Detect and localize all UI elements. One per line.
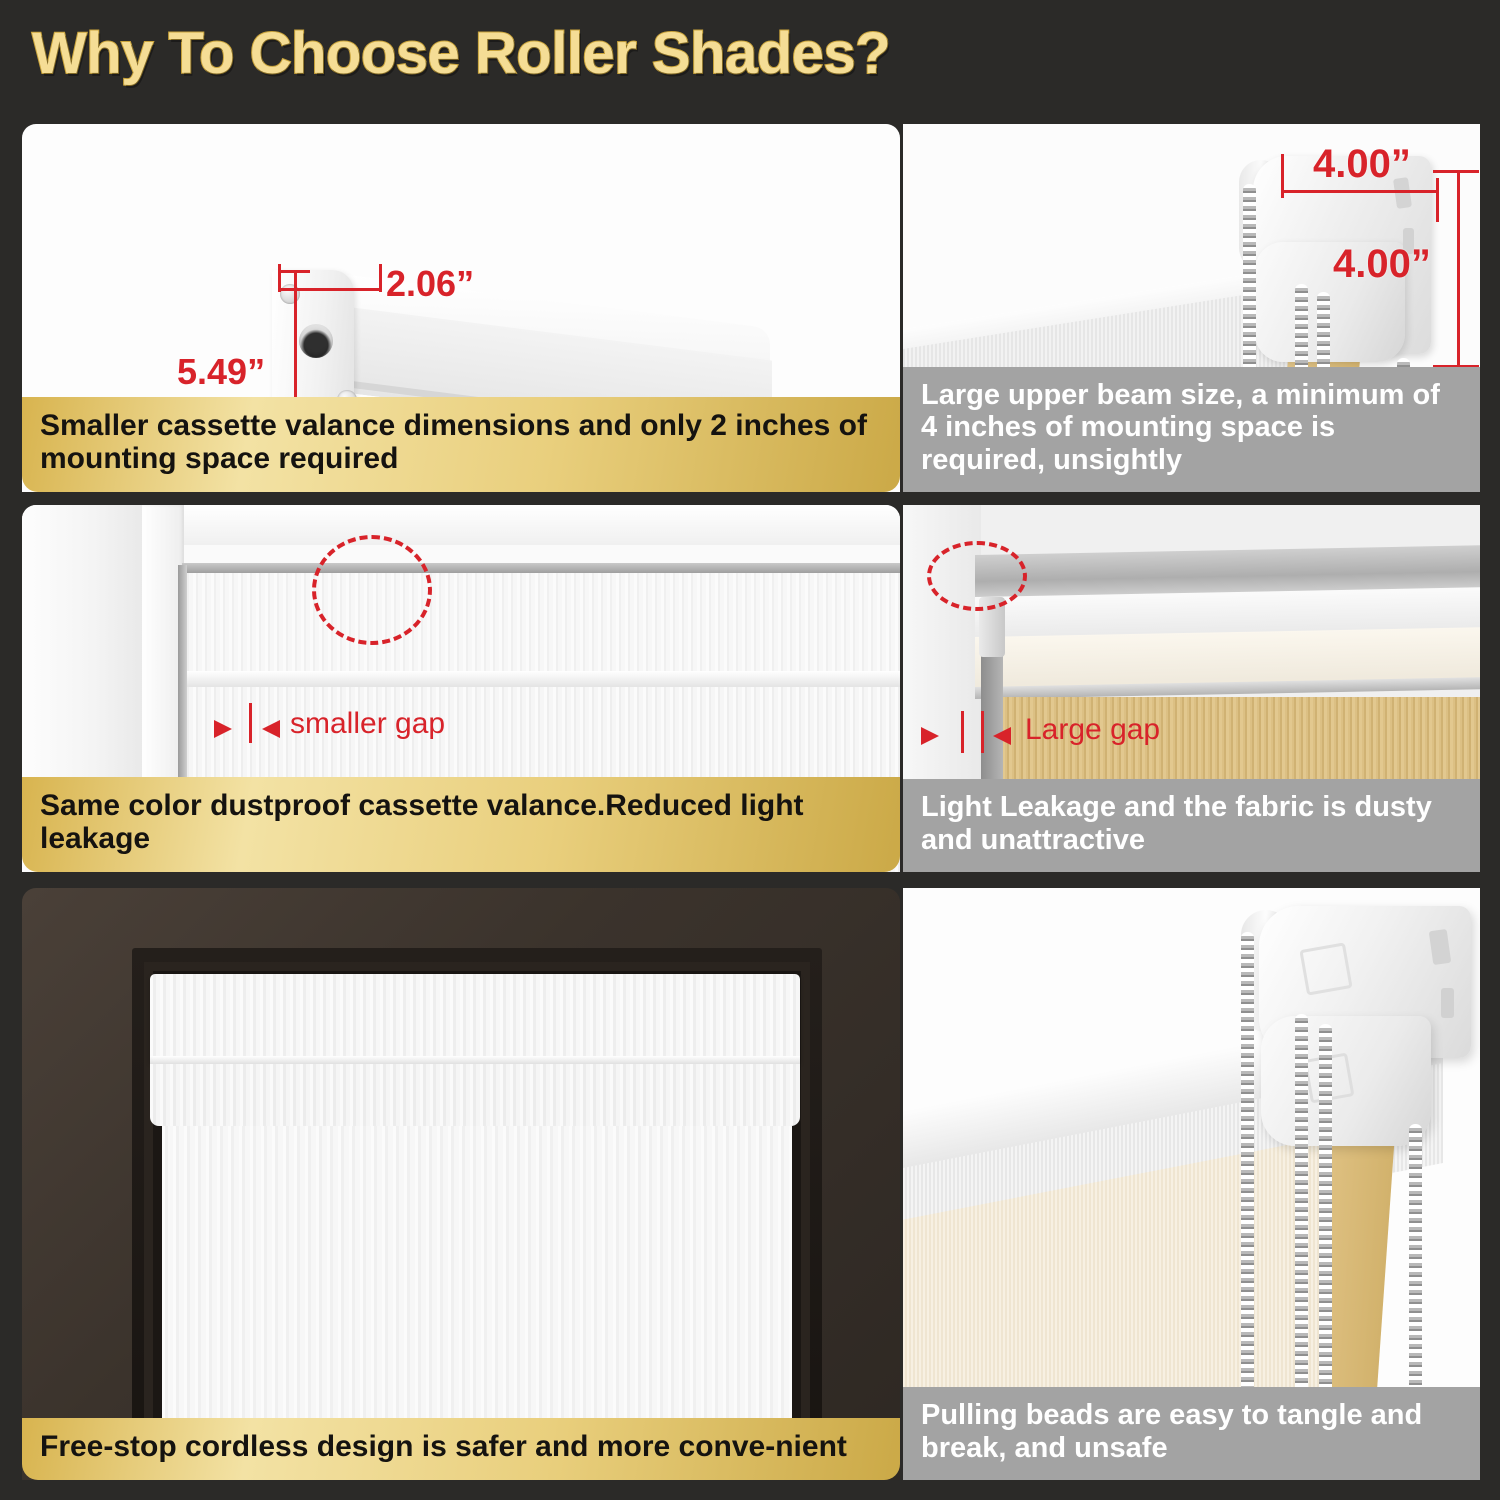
panel-bad-large-upper-beam: 4.00” 4.00” Large upper beam size, a min… xyxy=(903,124,1480,492)
gap-label: Large gap xyxy=(1025,713,1160,747)
cassette-valance xyxy=(150,974,800,1062)
height-dimension-line xyxy=(1457,170,1460,368)
gap-arrow-left-icon xyxy=(993,727,1011,745)
panel-good-cordless-design: Free-stop cordless design is safer and m… xyxy=(22,888,900,1480)
width-tick-right xyxy=(1436,178,1439,222)
comparison-grid: 2.06” 5.49” Smaller cassette valance dim… xyxy=(0,0,1500,1500)
height-dimension-label: 5.49” xyxy=(177,351,265,393)
panel-5-photo xyxy=(22,888,900,1480)
shade-upper-panel xyxy=(184,573,900,671)
width-tick-right xyxy=(379,264,382,292)
panel-5-caption: Free-stop cordless design is safer and m… xyxy=(22,1418,900,1480)
panel-6-caption: Pulling beads are easy to tangle and bre… xyxy=(903,1387,1480,1480)
panel-bad-pulling-beads: Pulling beads are easy to tangle and bre… xyxy=(903,888,1480,1480)
shade-fabric xyxy=(162,1126,792,1458)
cassette-rail xyxy=(182,563,900,573)
width-dimension-label: 4.00” xyxy=(1313,142,1411,187)
width-tick-left xyxy=(278,264,281,292)
bead-chain-3 xyxy=(1319,1024,1332,1438)
endcap-port xyxy=(299,324,333,358)
gap-arrow-right-icon xyxy=(921,727,939,745)
panel-good-cassette-dimensions: 2.06” 5.49” Smaller cassette valance dim… xyxy=(22,124,900,492)
panel-1-caption: Smaller cassette valance dimensions and … xyxy=(22,397,900,492)
window-frame-top xyxy=(142,505,900,545)
bracket-slot-lower xyxy=(1441,988,1454,1018)
width-dimension-line xyxy=(1281,190,1439,193)
gap-arrow-left-icon xyxy=(262,720,280,738)
height-tick-top xyxy=(278,270,310,273)
gap-marker-line-b xyxy=(981,711,984,753)
gap-marker-line xyxy=(249,703,252,743)
gap-marker-line-a xyxy=(961,711,964,753)
height-tick-top xyxy=(1433,170,1479,173)
panel-2-caption: Large upper beam size, a minimum of 4 in… xyxy=(903,367,1480,492)
endcap-screw-top xyxy=(280,284,300,304)
width-tick-left xyxy=(1281,154,1284,198)
width-dimension-label: 2.06” xyxy=(386,263,474,305)
bead-chain-1 xyxy=(1241,932,1254,1438)
bracket-emboss-upper-icon xyxy=(1299,942,1352,995)
gap-label: smaller gap xyxy=(290,707,445,741)
panel-good-dustproof-valance: smaller gap Same color dustproof cassett… xyxy=(22,505,900,872)
panel-4-caption: Light Leakage and the fabric is dusty an… xyxy=(903,779,1480,872)
panel-bad-light-leakage: Large gap Light Leakage and the fabric i… xyxy=(903,505,1480,872)
panel-3-caption: Same color dustproof cassette valance.Re… xyxy=(22,777,900,872)
bead-chain-2 xyxy=(1295,1014,1308,1438)
infographic-page: Why To Choose Roller Shades? 2.0 xyxy=(0,0,1500,1500)
highlight-circle-icon xyxy=(312,535,432,645)
roller-body xyxy=(150,1064,800,1126)
shade-divider-band xyxy=(184,671,900,687)
height-dimension-label: 4.00” xyxy=(1333,242,1431,287)
highlight-circle-icon xyxy=(927,541,1027,611)
gap-arrow-right-icon xyxy=(214,720,232,738)
